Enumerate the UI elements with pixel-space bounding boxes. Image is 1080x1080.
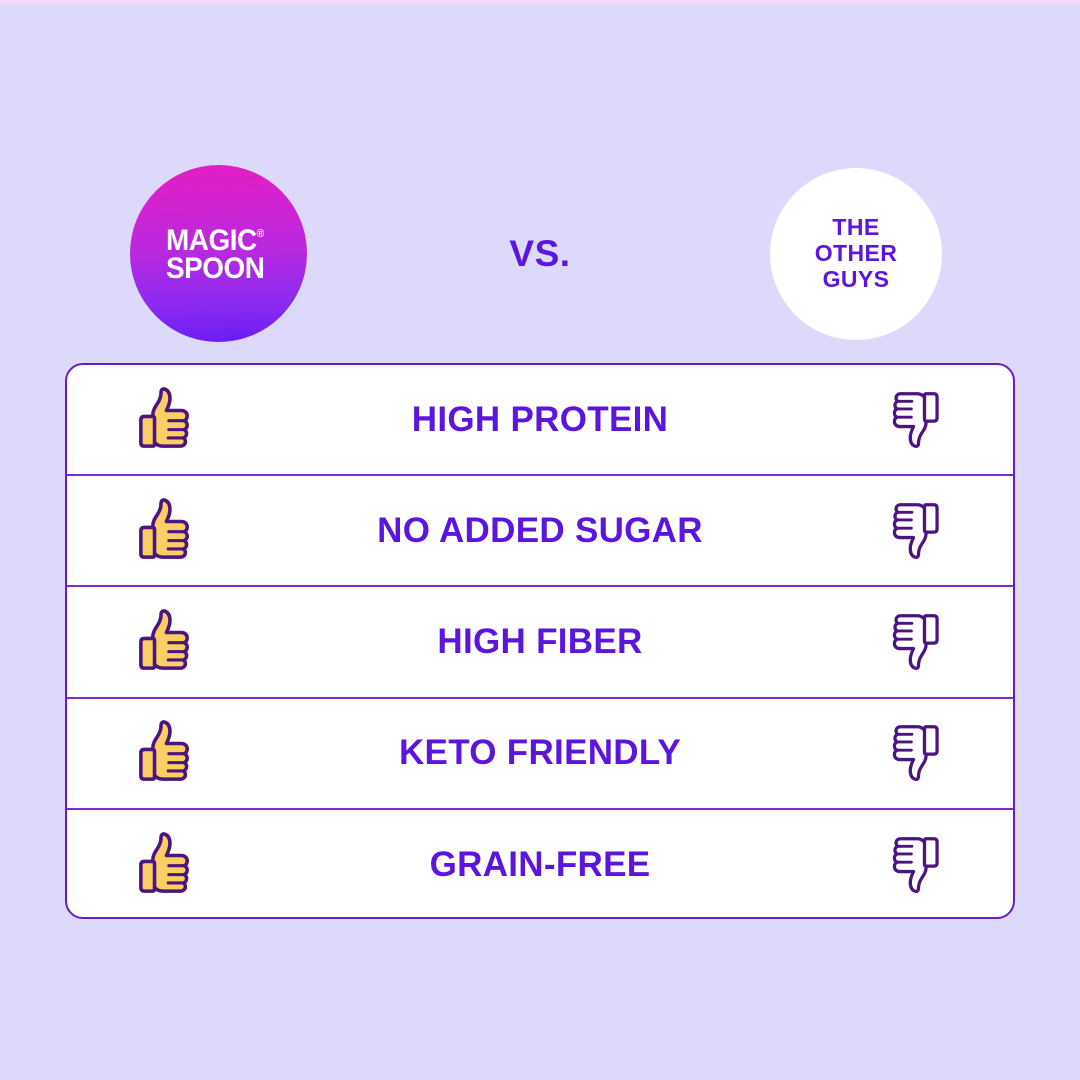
- table-row: HIGH PROTEIN: [67, 365, 1013, 476]
- other-guys-wordmark: THE OTHER GUYS: [815, 215, 898, 292]
- table-row: GRAIN-FREE: [67, 810, 1013, 919]
- thumbs-up-icon: [129, 604, 205, 680]
- other-guys-cell: [813, 718, 1013, 788]
- thumbs-up-icon: [129, 382, 205, 458]
- other-guys-line-3: GUYS: [815, 267, 898, 293]
- magic-spoon-logo-badge: MAGIC® SPOON: [130, 165, 307, 342]
- thumbs-up-icon: [129, 827, 205, 903]
- magic-spoon-cell: [67, 382, 267, 458]
- magic-spoon-wordmark: MAGIC® SPOON: [166, 227, 272, 282]
- feature-label: HIGH FIBER: [267, 622, 813, 662]
- comparison-table: HIGH PROTEIN: [65, 363, 1015, 919]
- feature-label: HIGH PROTEIN: [267, 400, 813, 440]
- thumbs-up-icon: [129, 715, 205, 791]
- other-guys-cell: [813, 830, 1013, 900]
- table-row: HIGH FIBER: [67, 587, 1013, 698]
- comparison-infographic: MAGIC® SPOON VS. THE OTHER GUYS: [0, 0, 1080, 1080]
- other-guys-line-1: THE: [815, 215, 898, 241]
- magic-spoon-cell: [67, 715, 267, 791]
- thumbs-up-icon: [129, 493, 205, 569]
- feature-label: NO ADDED SUGAR: [267, 511, 813, 551]
- thumbs-down-icon: [878, 830, 948, 900]
- thumbs-down-icon: [878, 385, 948, 455]
- table-row: NO ADDED SUGAR: [67, 476, 1013, 587]
- registered-trademark-icon: ®: [256, 229, 264, 239]
- feature-label: GRAIN-FREE: [267, 845, 813, 885]
- brand-line-1: MAGIC®: [166, 227, 264, 255]
- other-guys-cell: [813, 607, 1013, 677]
- table-row: KETO FRIENDLY: [67, 699, 1013, 810]
- other-guys-badge: THE OTHER GUYS: [770, 168, 942, 340]
- magic-spoon-cell: [67, 827, 267, 903]
- thumbs-down-icon: [878, 718, 948, 788]
- magic-spoon-cell: [67, 493, 267, 569]
- thumbs-down-icon: [878, 607, 948, 677]
- comparison-header: MAGIC® SPOON VS. THE OTHER GUYS: [0, 165, 1080, 343]
- thumbs-down-icon: [878, 496, 948, 566]
- brand-line-2: SPOON: [166, 255, 264, 283]
- magic-spoon-cell: [67, 604, 267, 680]
- other-guys-cell: [813, 496, 1013, 566]
- other-guys-cell: [813, 385, 1013, 455]
- other-guys-line-2: OTHER: [815, 241, 898, 267]
- feature-label: KETO FRIENDLY: [267, 733, 813, 773]
- versus-label: VS.: [440, 165, 640, 342]
